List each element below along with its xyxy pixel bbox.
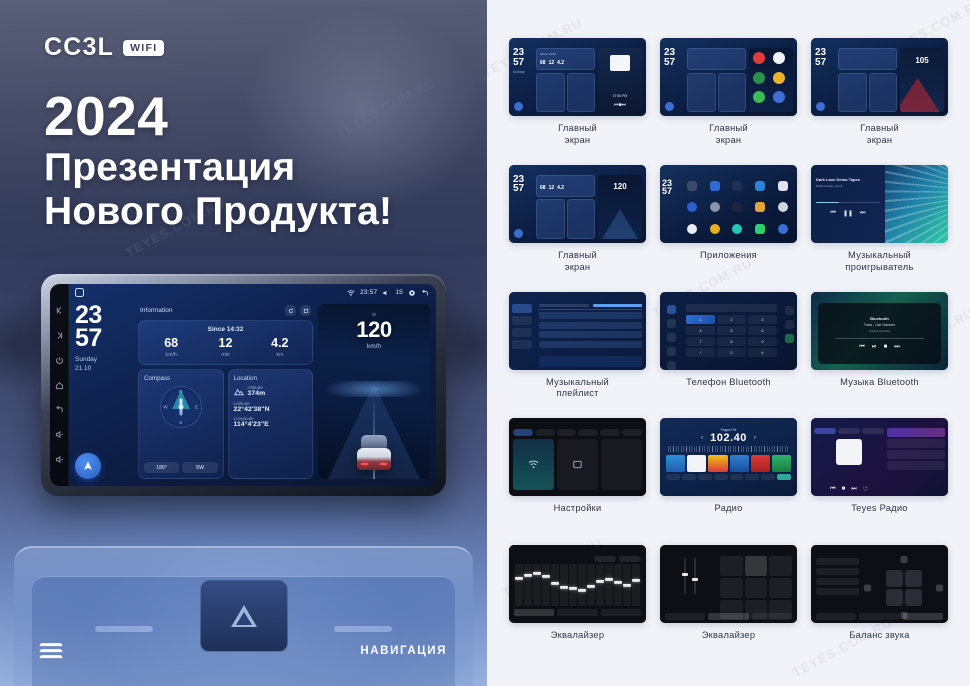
trip-stat: 12 min <box>198 337 252 358</box>
trip-stat-value: 4.2 <box>253 337 307 350</box>
balance-up-button[interactable] <box>900 556 907 563</box>
gallery-item[interactable]: Dark Lane Demo Tapes Rihanna feat. Jay-Z… <box>811 165 948 290</box>
console-slot-left <box>95 626 153 632</box>
speed-readout: ☼ 120 km/h <box>318 311 430 350</box>
thumbnail-equalizer-bands[interactable] <box>509 545 646 623</box>
thumbnail-music-playlist[interactable] <box>509 292 646 370</box>
trip-stat-unit: km <box>253 352 307 358</box>
thumbnail-home-nav-105[interactable]: 23 57 105 <box>811 38 948 116</box>
location-latitude-row: Latitude 22°42'38"N <box>234 401 308 413</box>
gallery-item[interactable]: Эквалайзер <box>660 545 797 670</box>
thumbnail-radio[interactable]: Радио FM ‹ 102.40 › <box>660 418 797 496</box>
compass-mark-e: E <box>195 405 198 410</box>
status-bar: 23:57 15 <box>69 284 436 301</box>
volume-up-key[interactable] <box>55 455 64 464</box>
headline-line-2: Нового Продукта! <box>44 190 392 234</box>
gallery-caption: Приложения <box>700 250 757 262</box>
altitude-value: 374m <box>248 390 266 397</box>
thumb-stat: 12 <box>549 185 555 191</box>
settings-icon[interactable] <box>408 289 416 297</box>
thumb-speed: 105 <box>900 56 944 65</box>
compass-readouts: 180° SW <box>144 462 218 473</box>
hero-footer: НАВИГАЦИЯ <box>0 642 487 660</box>
home-key[interactable] <box>55 381 64 390</box>
screen-content: 23 57 Sunday 21.10 Information <box>69 301 436 486</box>
expand-icon[interactable] <box>300 305 311 316</box>
radio-prev-icon[interactable]: ‹ <box>701 435 703 441</box>
location-widget[interactable]: Location Altitude 374m <box>228 369 314 479</box>
head-unit-screen[interactable]: 23:57 15 <box>69 284 436 486</box>
thumb-label: Since 14:32 <box>540 52 591 56</box>
thumb-clock-m: 57 <box>664 58 684 68</box>
speed-value: 120 <box>318 319 430 341</box>
trip-stat: 4.2 km <box>253 337 307 358</box>
thumbnail-settings[interactable] <box>509 418 646 496</box>
thumb-clock-m: 57 <box>513 58 533 68</box>
gallery-item[interactable]: 23 57 68124.2 120 Главныйэкран <box>509 165 646 290</box>
location-longitude-row: Longitude 114°4'23"E <box>234 416 308 428</box>
brand-logo: CC3L WIFI <box>44 33 164 62</box>
power-key[interactable] <box>55 356 64 365</box>
gallery-item[interactable]: 23 57 Sunday Since 14:32 68124.2 07:50 P… <box>509 38 646 163</box>
headline-block: 2024 Презентация Нового Продукта! <box>44 88 392 234</box>
volume-down-key[interactable] <box>55 430 64 439</box>
console-slot-right <box>334 626 392 632</box>
headline-line-1: Презентация <box>44 146 392 190</box>
thumb-stat: 68 <box>540 60 546 66</box>
balance-right-button[interactable] <box>936 584 943 591</box>
thumb-track-title: Dark Lane Demo Tapes <box>816 177 880 182</box>
trip-stat-value: 12 <box>198 337 252 350</box>
widgets-column: Information Since 14:32 68 <box>138 304 313 479</box>
next-track-key[interactable] <box>55 331 64 340</box>
gallery-caption: Баланс звука <box>849 630 909 642</box>
status-volume: 15 <box>395 289 403 296</box>
volume-icon <box>382 289 390 297</box>
thumbnail-home-nav-120[interactable]: 23 57 68124.2 120 <box>509 165 646 243</box>
car-model-3d <box>355 440 393 470</box>
thumb-stat: 12 <box>549 60 555 66</box>
thumb-nav-fab <box>514 229 523 238</box>
car-windshield <box>361 435 387 448</box>
screenshot-gallery-panel: TEYES.COM.RU TEYES.COM.RU TEYES.COM.RU T… <box>487 0 970 686</box>
thumbnail-home-apps[interactable]: 23 57 <box>660 38 797 116</box>
thumb-bt-artist: Coldest Sensitive <box>869 329 891 333</box>
gallery-caption: Главныйэкран <box>558 250 597 274</box>
back-key[interactable] <box>55 405 64 414</box>
thumb-bt-track: Track - Like Summer <box>864 323 895 327</box>
location-altitude-row: Altitude 374m <box>234 385 308 397</box>
gallery-item[interactable]: Баланс звука <box>811 545 948 670</box>
gallery-item[interactable]: 23 57 Главныйэ <box>660 38 797 163</box>
footer-label: НАВИГАЦИЯ <box>360 645 447 657</box>
hazard-triangle-icon <box>231 605 257 627</box>
thumbnail-app-drawer[interactable]: 23 57 <box>660 165 797 243</box>
gallery-caption: Музыкальныйплейлист <box>546 377 609 401</box>
side-key-strip[interactable] <box>50 284 69 486</box>
thumbnail-bt-phone[interactable]: 123 456 789 *0# <box>660 292 797 370</box>
compass-mark-s: S <box>179 420 182 425</box>
clock-minutes: 57 <box>75 327 133 350</box>
thumbnail-sound-balance[interactable] <box>811 545 948 623</box>
compass-direction: SW <box>182 462 217 473</box>
car-dashboard-scene: 23:57 15 <box>0 256 487 686</box>
gallery-caption: Эквалайзер <box>702 630 756 642</box>
clock-day: Sunday <box>75 356 133 365</box>
clock-date: 21.10 <box>75 365 133 374</box>
thumb-clock-sub: Sunday <box>513 70 533 74</box>
longitude-value: 114°4'23"E <box>234 421 308 428</box>
trip-stat-unit: min <box>198 352 252 358</box>
speaker-quadrants[interactable] <box>886 570 922 606</box>
thumb-nav-fab <box>514 102 523 111</box>
gallery-item[interactable]: ⏮■⏭♡ Teyes Радио <box>811 418 948 543</box>
thumb-nav-fab <box>665 102 674 111</box>
head-unit-bezel: 23:57 15 <box>41 274 446 496</box>
thumb-clock-m: 57 <box>815 58 835 68</box>
gallery-grid: 23 57 Sunday Since 14:32 68124.2 07:50 P… <box>509 38 948 670</box>
gallery-item[interactable]: 23 57 Приложения <box>660 165 797 290</box>
trip-stats: 68 km/h 12 min 4.2 <box>144 337 307 358</box>
trip-since-label: Since 14:32 <box>144 326 307 333</box>
gallery-caption: Эквалайзер <box>551 630 605 642</box>
information-title: Information <box>140 307 281 314</box>
gallery-caption: Главныйэкран <box>860 123 899 147</box>
layers-icon <box>40 642 62 660</box>
gallery-caption: Радио <box>714 503 742 515</box>
gallery-item[interactable]: Радио FM ‹ 102.40 › <box>660 418 797 543</box>
brand-wifi-badge: WIFI <box>123 40 164 56</box>
clock-column: 23 57 Sunday 21.10 <box>75 304 133 479</box>
compass-center-dot <box>178 405 183 410</box>
gallery-caption: Teyes Радио <box>851 503 907 515</box>
brand-model-label: CC3L <box>44 33 114 62</box>
thumbnail-bt-music[interactable]: Bluetooth Track - Like Summer Coldest Se… <box>811 292 948 370</box>
gallery-caption: Телефон Bluetooth <box>686 377 771 389</box>
thumb-stat: 4.2 <box>557 60 564 66</box>
thumbnail-teyes-radio[interactable]: ⏮■⏭♡ <box>811 418 948 496</box>
thumb-stat: 68 <box>540 185 546 191</box>
car-body <box>357 448 391 470</box>
navigation-view[interactable]: ☼ 120 km/h <box>318 304 430 479</box>
back-icon[interactable] <box>421 289 429 297</box>
prev-track-key[interactable] <box>55 306 64 315</box>
location-title: Location <box>234 375 308 382</box>
balance-left-button[interactable] <box>864 584 871 591</box>
trip-stat: 68 km/h <box>144 337 198 358</box>
trip-info-card: Since 14:32 68 km/h 12 min <box>138 320 313 365</box>
gallery-item[interactable]: Эквалайзер <box>509 545 646 670</box>
storage-icon <box>557 439 598 490</box>
gallery-item[interactable]: Bluetooth Track - Like Summer Coldest Se… <box>811 292 948 417</box>
speed-unit: km/h <box>318 343 430 350</box>
thumbnail-home-music[interactable]: 23 57 Sunday Since 14:32 68124.2 07:50 P… <box>509 38 646 116</box>
lower-console <box>0 514 487 686</box>
thumbnail-equalizer-presets[interactable] <box>660 545 797 623</box>
thumbnail-music-player[interactable]: Dark Lane Demo Tapes Rihanna feat. Jay-Z… <box>811 165 948 243</box>
headline-year: 2024 <box>44 88 392 146</box>
thumb-bt-device: Bluetooth <box>870 316 889 321</box>
refresh-icon[interactable] <box>285 305 296 316</box>
mountain-icon <box>234 387 244 396</box>
gallery-caption: Главныйэкран <box>709 123 748 147</box>
car-taillight-left <box>361 463 368 466</box>
gallery-caption: Музыкальныйпроигрыватель <box>845 250 913 274</box>
thumb-clock-m: 57 <box>662 186 672 196</box>
wifi-icon <box>513 439 554 490</box>
compass-title: Compass <box>144 375 218 382</box>
hero-panel: TEYES.COM.RU TEYES.COM.RU TEYES.COM.RU C… <box>0 0 487 686</box>
gallery-caption: Музыка Bluetooth <box>840 377 919 389</box>
home-indicator-icon[interactable] <box>75 288 84 297</box>
thumb-nav-fab <box>816 102 825 111</box>
gallery-item[interactable]: 123 456 789 *0# Телефон Bluetooth <box>660 292 797 417</box>
car-taillight-right <box>380 463 387 466</box>
gallery-item[interactable]: 23 57 105 Главныйэкран <box>811 38 948 163</box>
presentation-slide: TEYES.COM.RU TEYES.COM.RU TEYES.COM.RU C… <box>0 0 970 686</box>
compass-widget[interactable]: Compass N E S W <box>138 369 224 479</box>
information-header: Information <box>138 304 313 316</box>
compass-heading: 180° <box>144 462 179 473</box>
radio-next-icon[interactable]: › <box>754 435 756 441</box>
gallery-item[interactable]: Настройки <box>509 418 646 543</box>
head-unit-display: 23:57 15 <box>50 284 436 486</box>
thumb-clock-m: 57 <box>513 184 533 194</box>
latitude-value: 22°42'38"N <box>234 406 308 413</box>
compass-dial: N E S W <box>160 386 202 428</box>
thumb-speed: 120 <box>598 182 642 191</box>
widgets-bottom-row: Compass N E S W <box>138 369 313 479</box>
gallery-caption: Главныйэкран <box>558 123 597 147</box>
navigation-fab-button[interactable] <box>75 453 101 479</box>
trip-stat-value: 68 <box>144 337 198 350</box>
thumb-stat: 4.2 <box>557 185 564 191</box>
wifi-icon <box>347 289 355 297</box>
compass-mark-w: W <box>163 405 167 410</box>
trip-stat-unit: km/h <box>144 352 198 358</box>
thumb-track-artist: Rihanna feat. Jay-Z <box>816 184 880 188</box>
gallery-caption: Настройки <box>554 503 602 515</box>
equalizer-bands[interactable] <box>514 564 641 606</box>
radio-frequency: 102.40 <box>710 432 747 444</box>
status-time: 23:57 <box>360 289 377 296</box>
gallery-item[interactable]: Музыкальныйплейлист <box>509 292 646 417</box>
